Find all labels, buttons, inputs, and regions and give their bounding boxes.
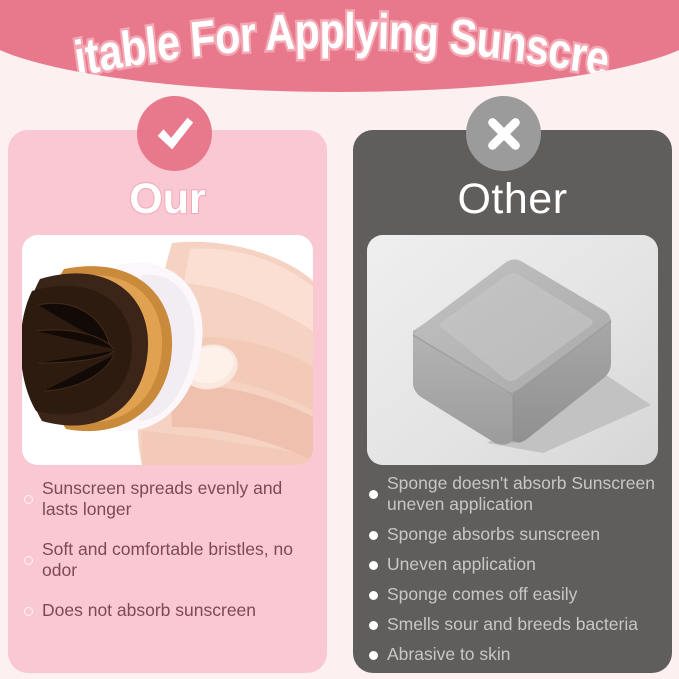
bullet-dot-icon	[369, 591, 378, 600]
heading-our: Our	[8, 178, 327, 221]
list-item: Sponge absorbs sunscreen	[369, 524, 661, 545]
card-our: Our	[8, 130, 327, 673]
bullet-text: Abrasive to skin	[387, 644, 511, 665]
bullet-circle-icon	[24, 495, 33, 504]
bullet-text: Does not absorb sunscreen	[42, 600, 256, 621]
list-item: Soft and comfortable bristles, no odor	[24, 539, 316, 581]
bullet-dot-icon	[369, 621, 378, 630]
sponge-block-illustration	[367, 235, 658, 465]
bullet-text: Sunscreen spreads evenly and lasts longe…	[42, 478, 316, 520]
bullet-text: Sponge doesn't absorb Sunscreen uneven a…	[387, 473, 661, 515]
list-item: Sunscreen spreads evenly and lasts longe…	[24, 478, 316, 520]
bullet-text: Soft and comfortable bristles, no odor	[42, 539, 316, 581]
product-comparison-poster: Suitable For Applying Sunscreen Our	[0, 0, 679, 679]
check-icon	[152, 111, 198, 157]
bullet-circle-icon	[24, 556, 33, 565]
bullet-text: Sponge absorbs sunscreen	[387, 524, 600, 545]
bullet-dot-icon	[369, 651, 378, 660]
cross-badge	[466, 96, 541, 171]
close-icon	[481, 111, 527, 157]
bullet-circle-icon	[24, 607, 33, 616]
bullet-dot-icon	[369, 561, 378, 570]
bullet-dot-icon	[369, 531, 378, 540]
heading-other: Other	[353, 178, 672, 221]
bullets-our: Sunscreen spreads evenly and lasts longe…	[24, 478, 316, 640]
list-item: Abrasive to skin	[369, 644, 661, 665]
list-item: Sponge comes off easily	[369, 584, 661, 605]
list-item: Sponge doesn't absorb Sunscreen uneven a…	[369, 473, 661, 515]
check-badge	[137, 96, 212, 171]
bullets-other: Sponge doesn't absorb Sunscreen uneven a…	[369, 473, 661, 674]
list-item: Smells sour and breeds bacteria	[369, 614, 661, 635]
card-other: Other	[353, 130, 672, 673]
list-item: Does not absorb sunscreen	[24, 600, 316, 621]
brush-in-hand-illustration	[22, 235, 313, 465]
list-item: Uneven application	[369, 554, 661, 575]
photo-our	[22, 235, 313, 465]
bullet-text: Smells sour and breeds bacteria	[387, 614, 638, 635]
bullet-text: Uneven application	[387, 554, 536, 575]
bullet-text: Sponge comes off easily	[387, 584, 577, 605]
comparison-columns: Our	[0, 0, 679, 679]
bullet-dot-icon	[369, 490, 378, 499]
photo-other	[367, 235, 658, 465]
